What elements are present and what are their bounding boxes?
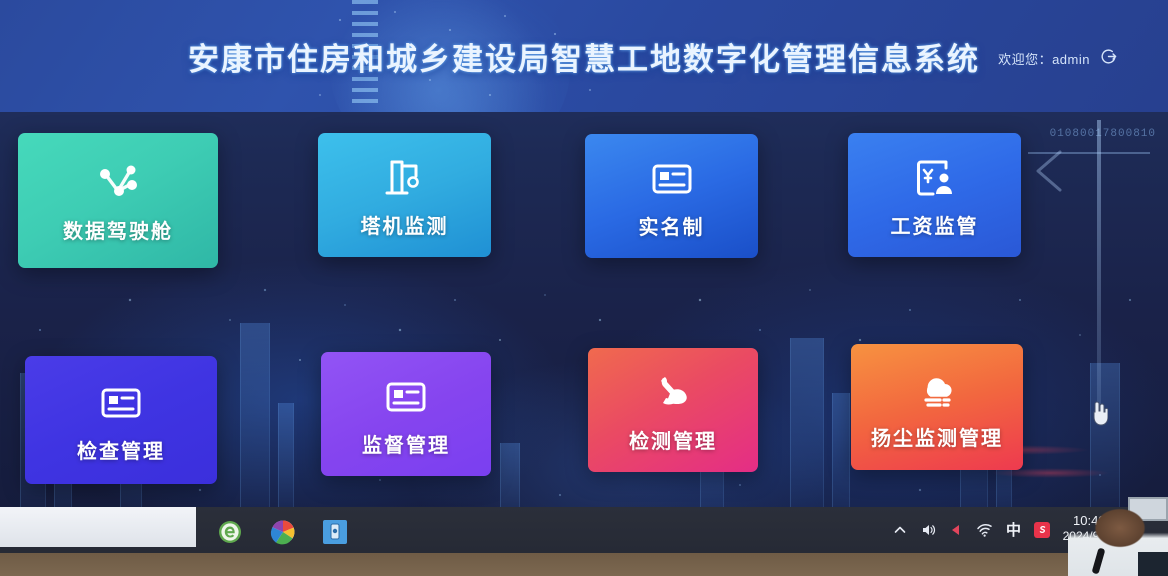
system-tray: 中 [893,519,1050,540]
tile-label: 数据驾驶舱 [63,215,173,244]
tile-wage-supervision[interactable]: 工资监管 [848,133,1021,257]
show-hidden-icons-icon[interactable] [893,523,907,537]
tile-dust-monitoring-management[interactable]: 扬尘监测管理 [851,344,1023,470]
decoration-digits: 01080017800810 [1050,128,1156,140]
id-card-icon [380,371,432,423]
tile-label: 塔机监测 [361,210,449,239]
wrench-tools-icon [647,367,699,419]
tile-label: 扬尘监测管理 [871,422,1003,451]
welcome-user-label: 欢迎您：admin [998,49,1090,68]
ime-cn-icon[interactable]: 中 [1006,519,1021,540]
node-graph-icon [92,157,144,209]
triangle-icon[interactable] [949,523,963,537]
desk-object [1138,552,1168,576]
tower-crane-icon [379,152,431,204]
windows-taskbar: 中 10:49 2024/9/25 [0,507,1168,553]
app-header: 安康市住房和城乡建设局智慧工地数字化管理信息系统 欢迎您：admin [0,0,1168,112]
tile-tower-crane-monitoring[interactable]: 塔机监测 [318,133,491,257]
id-card-icon [95,377,147,429]
projected-screen: 安康市住房和城乡建设局智慧工地数字化管理信息系统 欢迎您：admin 01080… [0,0,1168,523]
tile-label: 工资监管 [891,210,979,239]
taskbar-app-colorful[interactable] [268,517,298,547]
wifi-icon[interactable] [976,523,993,537]
red-app-icon[interactable] [1034,522,1050,538]
tile-label: 监督管理 [362,429,450,458]
tile-real-name-system[interactable]: 实名制 [585,134,758,258]
phone-app-icon [322,519,348,545]
dust-cloud-icon [911,364,963,416]
wage-person-icon [909,152,961,204]
taskbar-left-panel [0,507,196,547]
hand-cursor-icon [1090,400,1108,426]
tile-label: 检查管理 [77,435,165,464]
speaker-icon[interactable] [920,522,936,538]
color-ball-icon [270,519,296,545]
page-title: 安康市住房和城乡建设局智慧工地数字化管理信息系统 [0,34,1168,79]
tile-data-cockpit[interactable]: 数据驾驶舱 [18,133,218,268]
tile-label: 检测管理 [629,425,717,454]
screenshot-root: 安康市住房和城乡建设局智慧工地数字化管理信息系统 欢迎您：admin 01080… [0,0,1168,576]
chevron-left-icon [1030,148,1072,194]
tile-testing-management[interactable]: 检测管理 [588,348,758,472]
tile-label: 实名制 [639,211,705,240]
tile-inspection-management[interactable]: 检查管理 [25,356,217,484]
logout-icon[interactable] [1099,47,1118,66]
id-card-icon [646,153,698,205]
taskbar-app-phone-assistant[interactable] [320,517,350,547]
tile-supervision-management[interactable]: 监督管理 [321,352,491,476]
browser-e-icon [217,519,243,545]
taskbar-app-360-browser[interactable] [215,517,245,547]
light-beam [1097,120,1101,420]
